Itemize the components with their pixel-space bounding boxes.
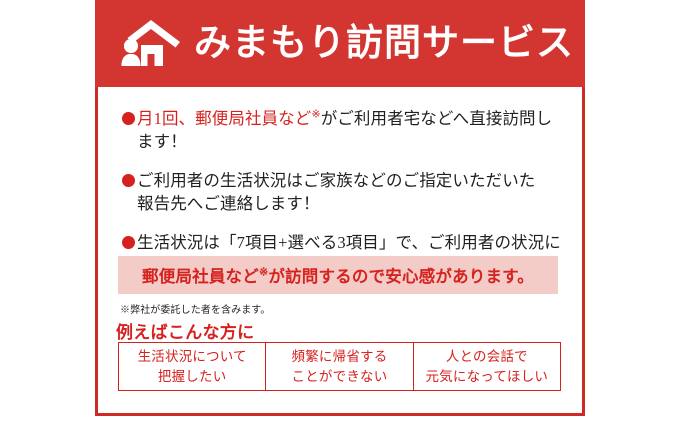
example-box-1: 生活状況について 把握したい [119,343,266,390]
example-box-2-line-1: 頻繁に帰省する [292,347,388,367]
highlight-text-after: が訪問するので安心感があります。 [268,267,534,286]
feature-bullet-2: ご利用者の生活状況はご家族などのご指定いただいた 報告先へご連絡します！ [122,169,568,216]
bullet-3-line-1: 生活状況は「7項目+選べる3項目」で、ご利用者の状況に [137,231,561,254]
example-box-3-line-1: 人との会話で [446,347,528,367]
example-box-3: 人との会話で 元気になってほしい [414,343,560,390]
example-box-1-line-2: 把握したい [158,367,227,387]
poster-header: みまもり訪問サービス [95,0,585,87]
example-section-heading: 例えばこんな方に [116,318,254,343]
bullet-dot-icon [122,174,135,187]
poster-title: みまもり訪問サービス [194,25,574,62]
bullet-2-line-1: ご利用者の生活状況はご家族などのご指定いただいた [137,169,535,192]
example-box-1-line-1: 生活状況について [138,347,247,367]
highlight-text-before: 郵便局社員など [142,267,259,286]
highlight-asterisk: ※ [259,267,268,279]
example-box-group: 生活状況について 把握したい 頻繁に帰省する ことができない 人との会話で 元気… [118,342,561,391]
bullet-2-line-2: 報告先へご連絡します！ [137,192,535,215]
bullet-1-asterisk: ※ [311,109,320,121]
feature-bullet-1: 月1回、郵便局社員など※がご利用者宅などへ直接訪問します！ [122,107,568,154]
feature-bullet-2-text: ご利用者の生活状況はご家族などのご指定いただいた 報告先へご連絡します！ [137,169,535,216]
poster-body: 月1回、郵便局社員など※がご利用者宅などへ直接訪問します！ ご利用者の生活状況は… [98,87,582,278]
example-box-2: 頻繁に帰省する ことができない [266,343,413,390]
bullet-dot-icon [122,236,135,249]
service-poster: みまもり訪問サービス 月1回、郵便局社員など※がご利用者宅などへ直接訪問します！… [95,0,585,416]
feature-bullet-1-text: 月1回、郵便局社員など※がご利用者宅などへ直接訪問します！ [137,107,568,154]
example-box-2-line-2: ことができない [292,367,388,387]
bullet-1-highlight: 月1回、郵便局社員など [137,109,311,128]
example-box-3-line-2: 元気になってほしい [426,367,549,387]
reassurance-highlight-box: 郵便局社員など※が訪問するので安心感があります。 [118,256,558,294]
bullet-dot-icon [122,112,135,125]
reassurance-highlight-text: 郵便局社員など※が訪問するので安心感があります。 [142,263,534,287]
footnote-text: ※弊社が委託した者を含みます。 [120,301,271,316]
house-with-person-icon [120,18,182,70]
